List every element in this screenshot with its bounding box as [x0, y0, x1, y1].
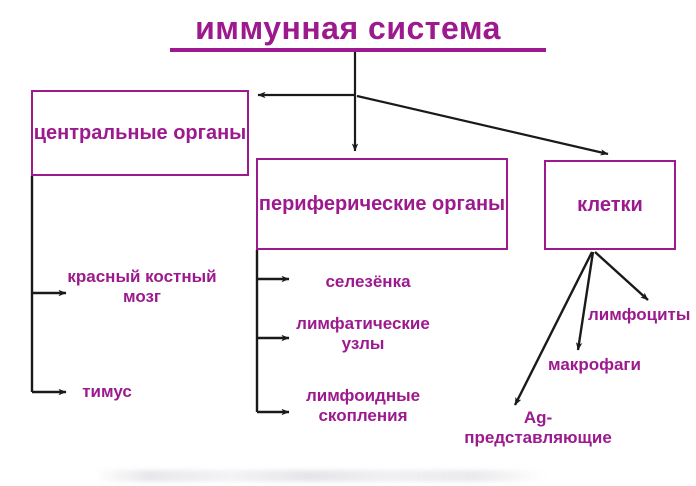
trunk-connector: [258, 52, 608, 154]
cells-branch-connector: [515, 252, 648, 405]
node-cells-label: клетки: [546, 192, 674, 218]
leaf-antigen-presenting-cells: Ag- представляющие: [438, 408, 638, 448]
leaf-red-bone-marrow: красный костный мозг: [42, 267, 242, 307]
leaf-lymphocytes: лимфоциты: [588, 305, 696, 325]
leaf-thymus: тимус: [42, 382, 172, 402]
node-cells[interactable]: клетки: [544, 160, 676, 250]
node-central-organs-label: центральные органы: [33, 120, 247, 146]
leaf-lymphoid-clusters: лимфоидные скопления: [268, 386, 458, 426]
diagram-canvas: иммунная система: [0, 0, 696, 486]
leaf-spleen: селезёнка: [278, 272, 458, 292]
bottom-caption-artifact: [95, 470, 545, 482]
node-peripheral-organs[interactable]: периферические органы: [256, 158, 508, 250]
leaf-lymph-nodes: лимфатические узлы: [268, 314, 458, 354]
leaf-macrophages: макрофаги: [548, 355, 693, 375]
title-underline: [170, 48, 546, 52]
node-central-organs[interactable]: центральные органы: [31, 90, 249, 176]
node-peripheral-organs-label: периферические органы: [258, 191, 506, 217]
page-title: иммунная система: [0, 10, 696, 48]
